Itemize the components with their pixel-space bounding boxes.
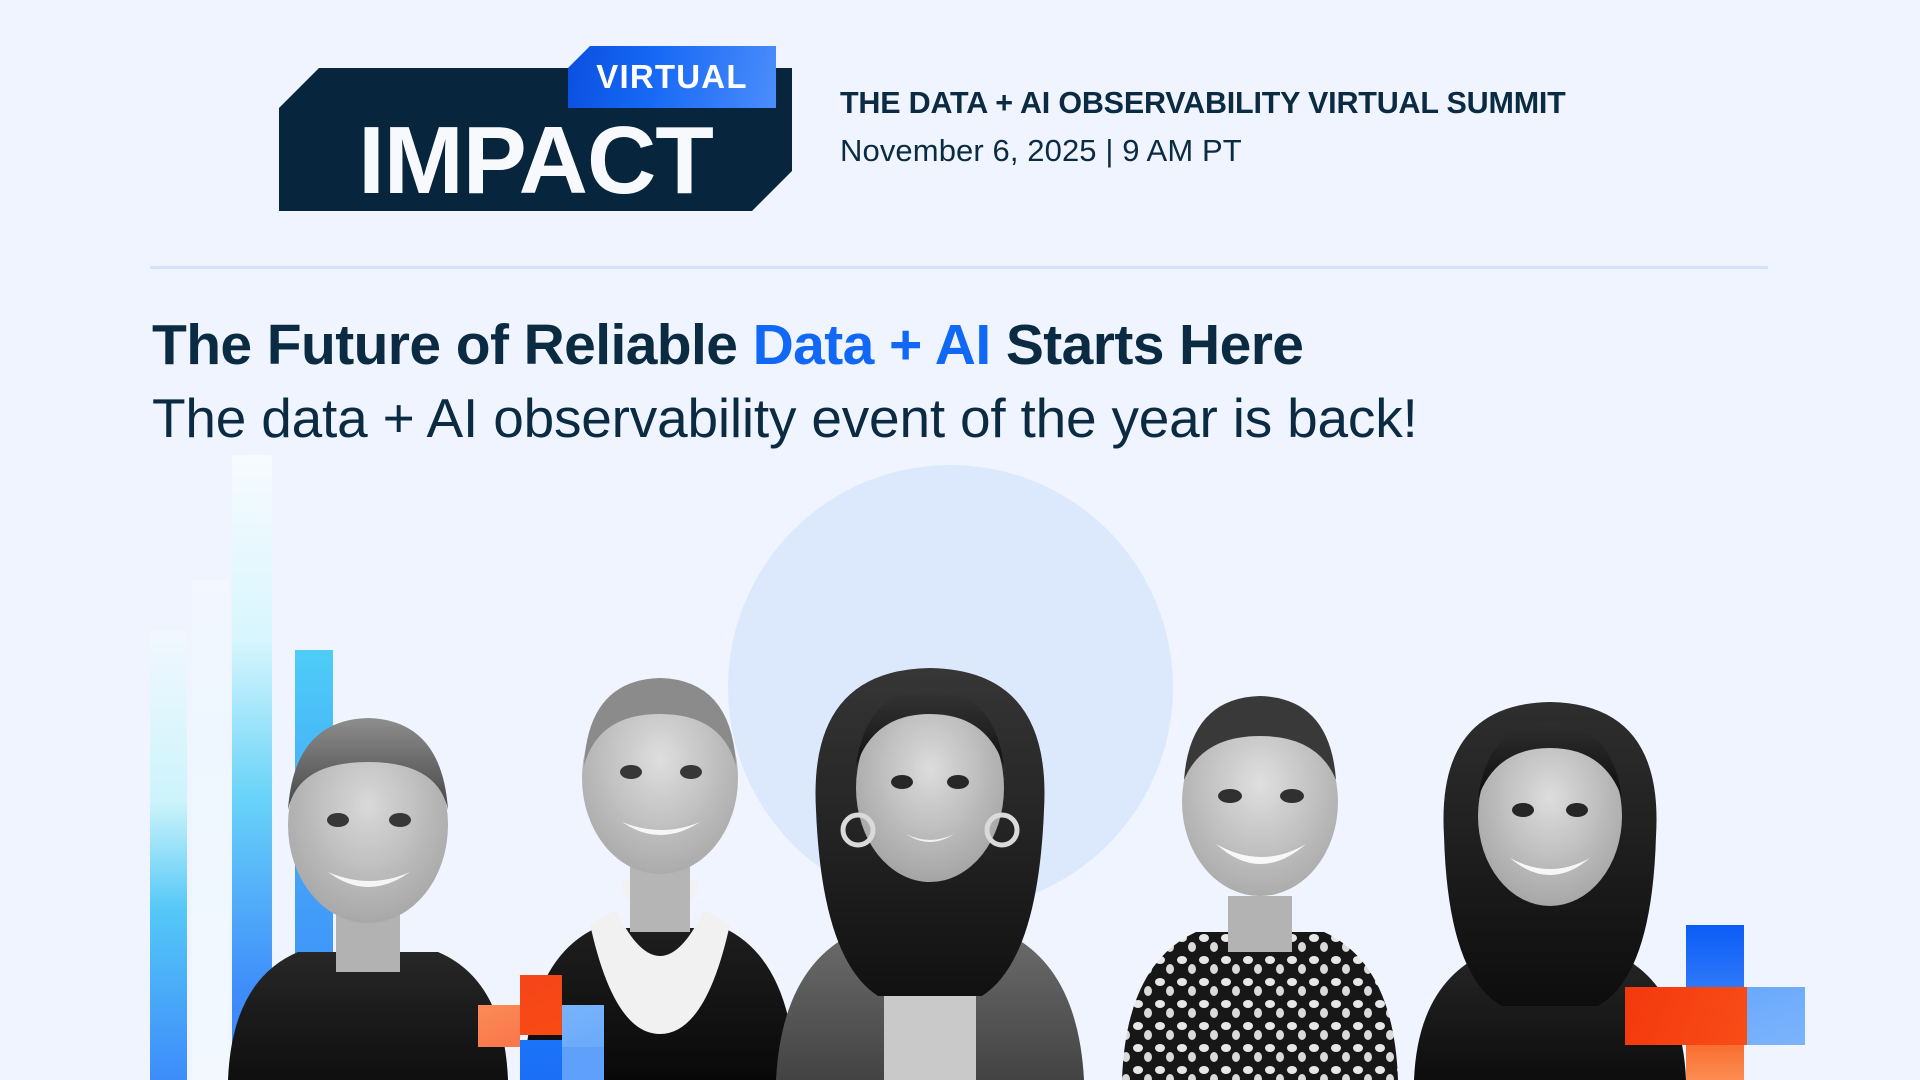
page-subtitle: The data + AI observability event of the… [152, 386, 1418, 450]
speaker-1-image [218, 660, 518, 1080]
bar-chart-bar-1 [150, 630, 187, 1080]
banner-header: IMPACT VIRTUAL THE DATA + AI OBSERVABILI… [0, 0, 1920, 230]
speaker-portrait-4 [1110, 580, 1410, 1080]
speaker-portrait-3 [760, 580, 1100, 1080]
speaker-3-image [760, 580, 1100, 1080]
decor-square-right-1 [1686, 925, 1744, 987]
decor-square-left-2 [478, 1005, 520, 1047]
decor-square-left-4 [520, 1040, 562, 1080]
page-title: The Future of Reliable Data + AI Starts … [152, 312, 1303, 378]
headline-segment-2: Starts Here [991, 313, 1304, 377]
event-title: THE DATA + AI OBSERVABILITY VIRTUAL SUMM… [840, 86, 1566, 121]
decor-square-right-2 [1625, 987, 1747, 1045]
promo-banner: IMPACT VIRTUAL THE DATA + AI OBSERVABILI… [0, 0, 1920, 1080]
event-date: November 6, 2025 | 9 AM PT [840, 133, 1566, 169]
speaker-4-image [1110, 580, 1410, 1080]
speaker-portrait-1 [218, 660, 518, 1080]
virtual-badge-text: VIRTUAL [596, 58, 747, 96]
headline-segment-1: The Future of Reliable [152, 313, 753, 377]
decor-square-right-4 [1686, 1045, 1744, 1080]
decor-square-left-1 [520, 975, 562, 1035]
logo-wordmark-text: IMPACT [358, 117, 713, 205]
virtual-badge: VIRTUAL [568, 46, 776, 108]
header-divider [150, 266, 1768, 269]
decor-square-left-5 [562, 1047, 604, 1080]
event-info: THE DATA + AI OBSERVABILITY VIRTUAL SUMM… [840, 86, 1566, 169]
impact-logo: IMPACT VIRTUAL [279, 46, 792, 211]
headline-accent: Data + AI [753, 313, 991, 377]
decor-square-left-3 [562, 1005, 604, 1047]
decor-square-right-3 [1747, 987, 1805, 1045]
